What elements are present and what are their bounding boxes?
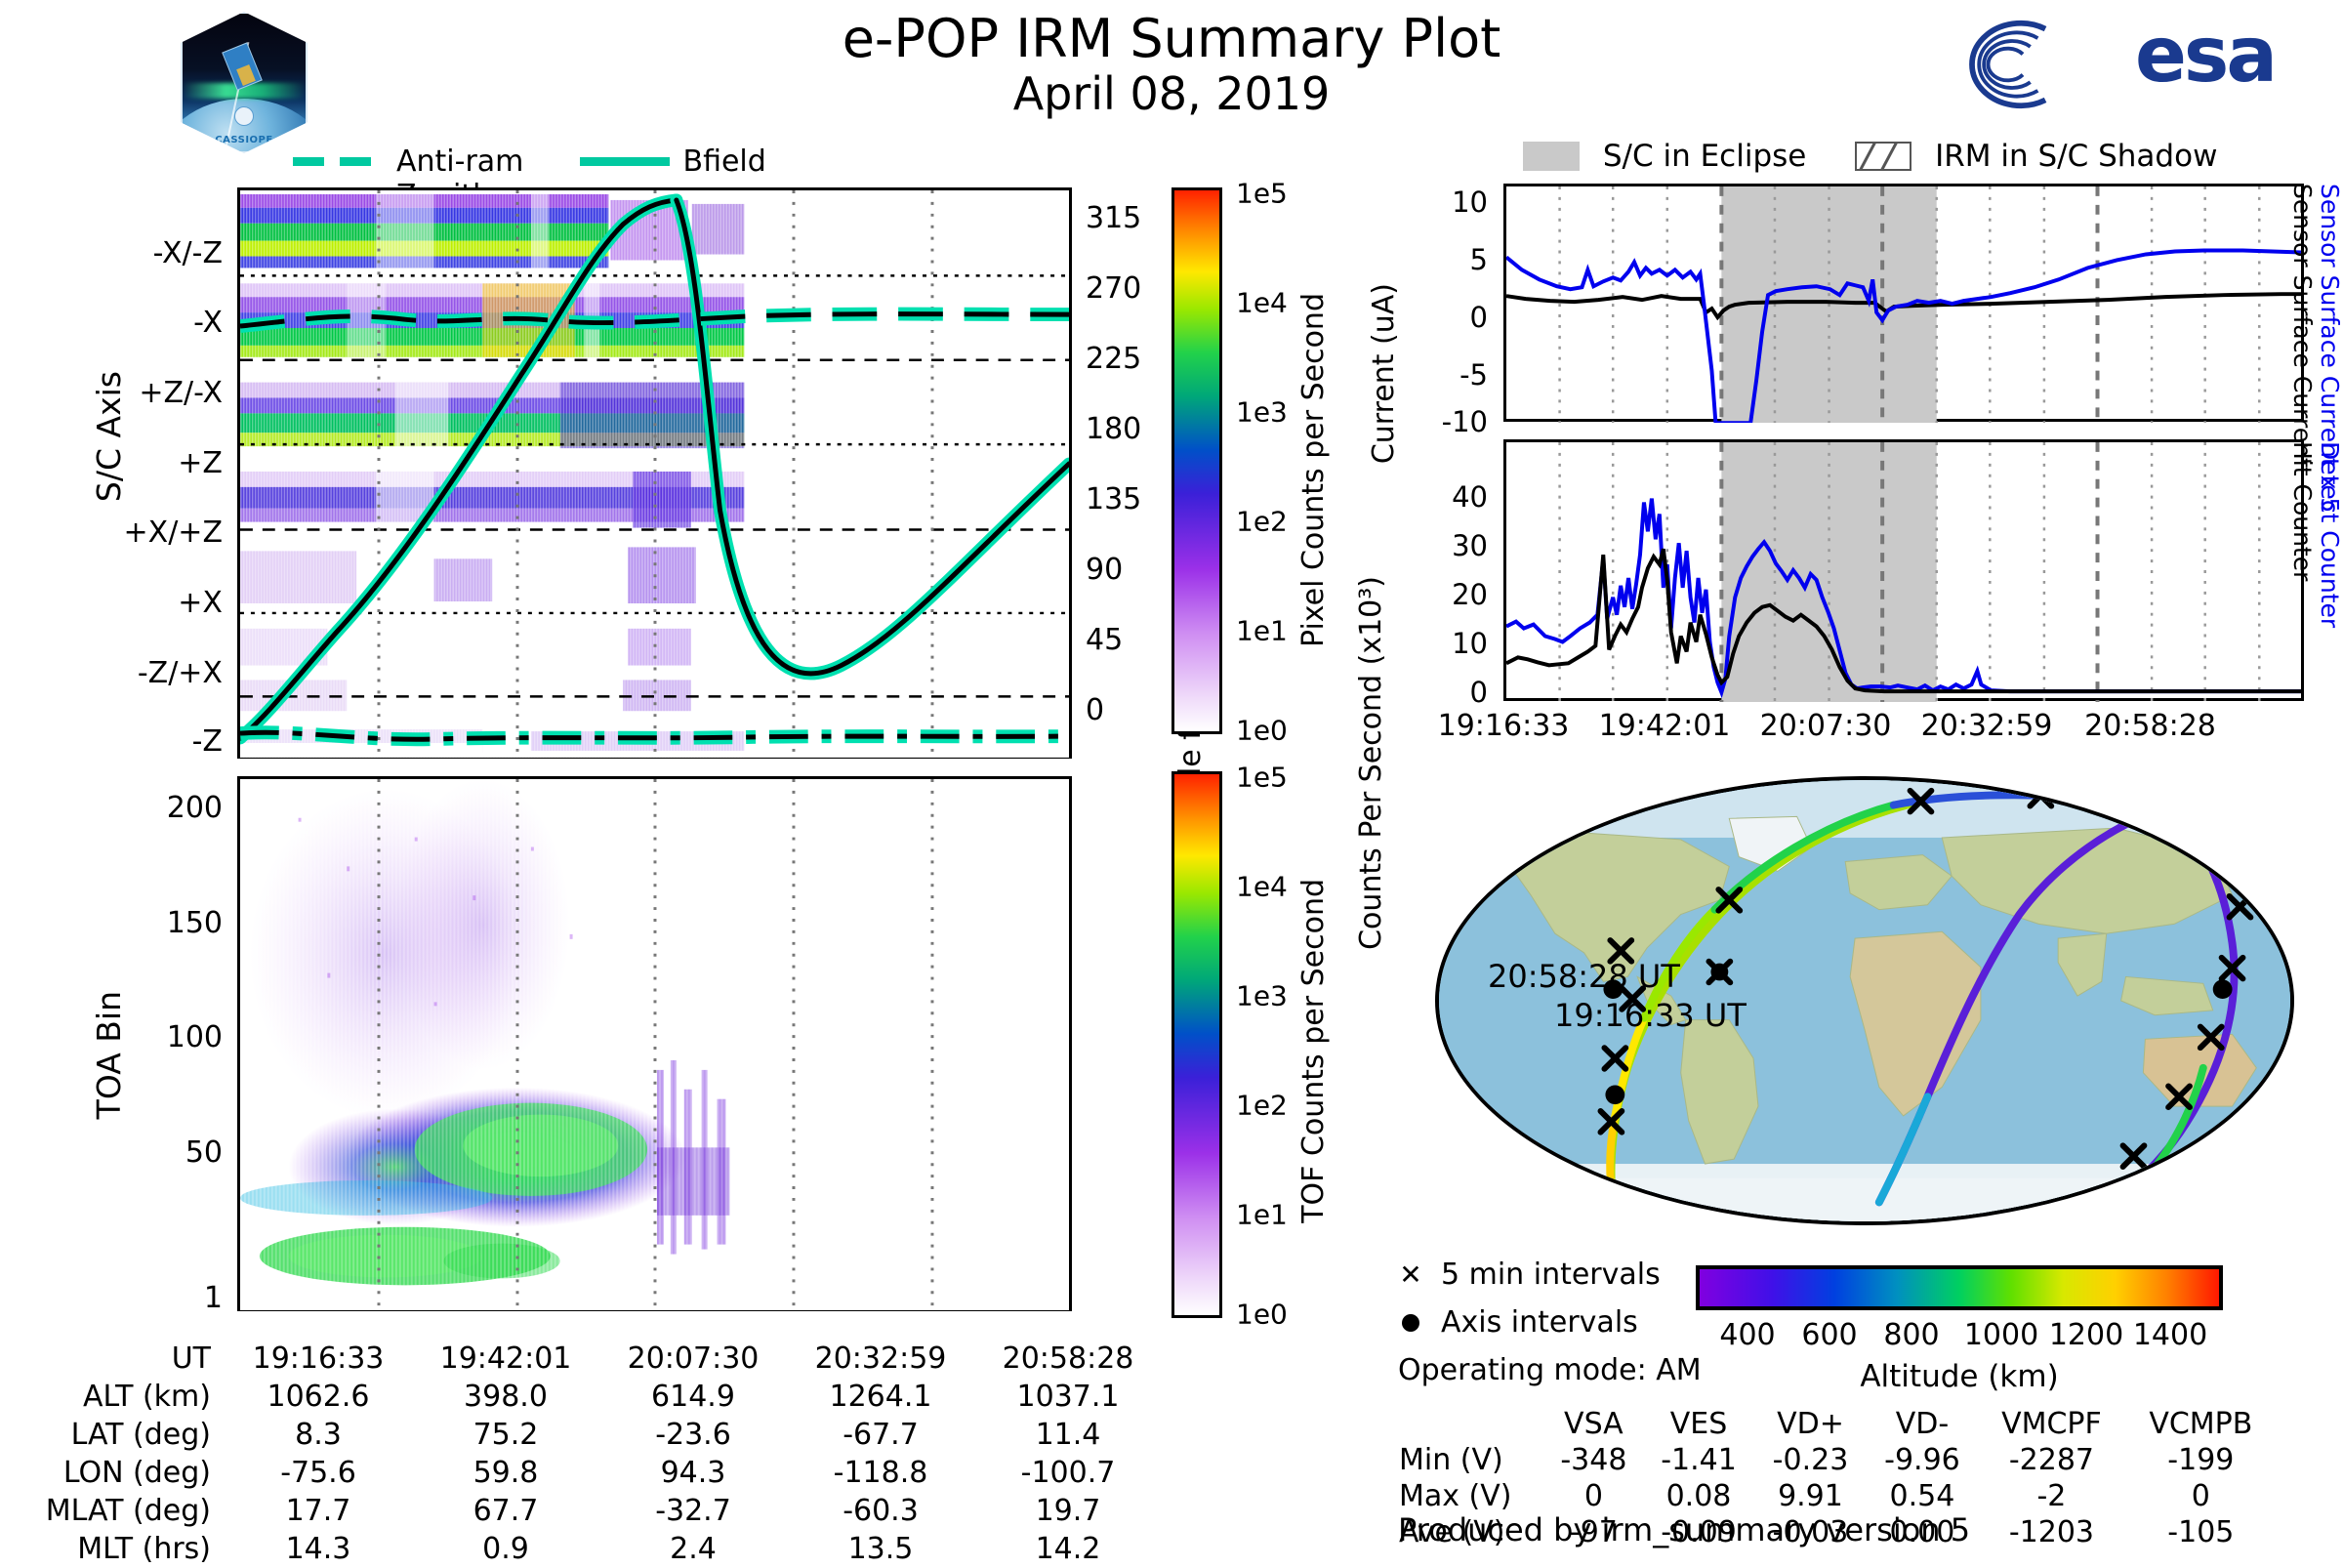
- orbit-data-table: UT 19:16:33 19:42:01 20:07:30 20:32:59 2…: [0, 1340, 1162, 1568]
- stats-col-vmcpf: VMCPF: [1978, 1406, 2125, 1442]
- map-altitude-colorbar: [1696, 1265, 2223, 1310]
- panel-a-angle-0: 315: [1086, 201, 1141, 235]
- cbar-b-tick-1: 1e4: [1236, 871, 1288, 903]
- panel-d-ylabel: Counts Per Second (x10³): [1355, 576, 1387, 950]
- panel-a-ytick-1: -X: [107, 306, 223, 340]
- cbar-a-tick-5: 1e0: [1236, 715, 1288, 747]
- cell-mlat-2: -32.7: [599, 1492, 787, 1530]
- cell-lat-0: 8.3: [225, 1416, 412, 1454]
- panel-c-ytick-3: -5: [1418, 358, 1488, 392]
- cell-alt-0: 1062.6: [225, 1378, 412, 1416]
- legend-label-shadow: IRM in S/C Shadow: [1935, 139, 2217, 174]
- cell-lon-2: 94.3: [599, 1454, 787, 1492]
- cbar-a-tick-4: 1e1: [1236, 615, 1288, 647]
- panel-d-right-label-blue: Detect Counter: [2316, 441, 2343, 628]
- legend-item-bfield: Bfield: [580, 144, 766, 179]
- cell-lon-0: -75.6: [225, 1454, 412, 1492]
- current-plot: [1503, 184, 2304, 422]
- cell-lat-3: -67.7: [787, 1416, 974, 1454]
- cell-alt-4: 1037.1: [974, 1378, 1162, 1416]
- panel-b-colorbar: [1171, 771, 1222, 1318]
- map-annotation-start: 20:58:28 UT: [1488, 958, 1680, 995]
- cross-marker-icon: ✕: [1398, 1259, 1423, 1291]
- legend-label-eclipse: S/C in Eclipse: [1603, 139, 1807, 174]
- map-legend-item-axis: Axis intervals: [1398, 1305, 1702, 1340]
- cbar-a-tick-1: 1e4: [1236, 287, 1288, 319]
- panel-a-angle-5: 90: [1086, 553, 1123, 587]
- panel-c-ytick-0: 10: [1418, 186, 1488, 219]
- esa-arc-icon: [1943, 18, 2058, 111]
- stats-max-vcmpb: 0: [2125, 1478, 2277, 1514]
- panel-d-ytick-3: 10: [1414, 627, 1488, 660]
- map-colorbar-label: Altitude (km): [1696, 1359, 2223, 1394]
- cell-lat-1: 75.2: [412, 1416, 599, 1454]
- cbar-b-tick-0: 1e5: [1236, 762, 1288, 794]
- cell-ut-3: 20:32:59: [787, 1340, 974, 1378]
- cell-ut-1: 19:42:01: [412, 1340, 599, 1378]
- panel-d-ytick-0: 40: [1414, 480, 1488, 514]
- cbar-b-tick-5: 1e0: [1236, 1299, 1288, 1331]
- map-legend-item-5min: ✕ 5 min intervals: [1398, 1258, 1702, 1292]
- time-tick-1: 19:42:01: [1582, 709, 1747, 743]
- cbar-a-tick-0: 1e5: [1236, 178, 1288, 210]
- cassiope-mission-patch-icon: CASSIOPE: [181, 12, 308, 153]
- table-row: LON (deg) -75.6 59.8 94.3 -118.8 -100.7: [0, 1454, 1162, 1492]
- panel-a-ytick-2: +Z/-X: [93, 376, 223, 410]
- stats-col-ves: VES: [1643, 1406, 1754, 1442]
- row-header-ut: UT: [0, 1340, 225, 1378]
- footer-produced-by: Produced by irm_summary version 5: [1398, 1511, 1970, 1548]
- map-cbar-tick-5: 1400: [2117, 1318, 2224, 1352]
- panel-a-angle-7: 0: [1086, 693, 1104, 727]
- cell-mlat-4: 19.7: [974, 1492, 1162, 1530]
- panel-a-ytick-7: -Z: [107, 724, 223, 759]
- legend-label-antiram: Anti-ram: [396, 144, 523, 179]
- panel-a-colorbar-label: Pixel Counts per Second: [1296, 293, 1331, 647]
- stats-min-vcmpb: -199: [2125, 1442, 2277, 1478]
- counts-plot-series: [1506, 442, 2301, 702]
- panel-a-angle-6: 45: [1086, 623, 1123, 657]
- row-header-alt: ALT (km): [0, 1378, 225, 1416]
- cell-mlt-0: 14.3: [225, 1530, 412, 1568]
- panel-a-ytick-5: +X: [107, 586, 223, 620]
- cell-alt-2: 614.9: [599, 1378, 787, 1416]
- stats-row-min: Min (V) -348 -1.41 -0.23 -9.96 -2287 -19…: [1398, 1442, 2277, 1478]
- stats-col-vdplus: VD+: [1754, 1406, 1866, 1442]
- bfield-line-swatch-icon: [580, 157, 670, 166]
- shadow-hatch-swatch-icon: [1855, 142, 1911, 171]
- stats-max-vdplus: 9.91: [1754, 1478, 1866, 1514]
- cell-lon-1: 59.8: [412, 1454, 599, 1492]
- panel-d-ytick-2: 20: [1414, 578, 1488, 611]
- cell-lon-4: -100.7: [974, 1454, 1162, 1492]
- stats-min-vdplus: -0.23: [1754, 1442, 1866, 1478]
- current-plot-series: [1506, 186, 2301, 423]
- map-legend: ✕ 5 min intervals Axis intervals Operati…: [1398, 1258, 1702, 1387]
- map-legend-label-axis: Axis intervals: [1441, 1305, 1638, 1340]
- panel-c-ytick-1: 5: [1418, 243, 1488, 276]
- counts-plot: [1503, 439, 2304, 701]
- dot-marker-icon: [1398, 1305, 1423, 1340]
- cell-lon-3: -118.8: [787, 1454, 974, 1492]
- eclipse-legend: S/C in Eclipse IRM in S/C Shadow: [1523, 137, 2323, 176]
- legend-item-eclipse: S/C in Eclipse: [1523, 138, 1806, 175]
- stats-rowhdr-min: Min (V): [1398, 1442, 1544, 1478]
- table-row: MLT (hrs) 14.3 0.9 2.4 13.5 14.2: [0, 1530, 1162, 1568]
- cell-mlat-3: -60.3: [787, 1492, 974, 1530]
- stats-row-max: Max (V) 0 0.08 9.91 0.54 -2 0: [1398, 1478, 2277, 1514]
- cell-mlt-3: 13.5: [787, 1530, 974, 1568]
- panel-a-angle-2: 225: [1086, 342, 1141, 376]
- antiram-line-swatch-icon: [293, 157, 383, 166]
- legend-label-bfield: Bfield: [683, 144, 766, 179]
- table-row: MLAT (deg) 17.7 67.7 -32.7 -60.3 19.7: [0, 1492, 1162, 1530]
- row-header-lon: LON (deg): [0, 1454, 225, 1492]
- map-legend-label-5min: 5 min intervals: [1441, 1258, 1661, 1292]
- panel-b-colorbar-label: TOF Counts per Second: [1296, 879, 1331, 1223]
- cell-mlat-1: 67.7: [412, 1492, 599, 1530]
- stats-max-vsa: 0: [1544, 1478, 1643, 1514]
- panel-a-ytick-6: -Z/+X: [93, 656, 223, 690]
- cell-lat-4: 11.4: [974, 1416, 1162, 1454]
- table-row: UT 19:16:33 19:42:01 20:07:30 20:32:59 2…: [0, 1340, 1162, 1378]
- time-tick-0: 19:16:33: [1420, 709, 1586, 743]
- legend-item-antiram: Anti-ram: [293, 144, 523, 179]
- cell-mlt-1: 0.9: [412, 1530, 599, 1568]
- panel-a-angle-3: 180: [1086, 412, 1141, 446]
- time-tick-3: 20:32:59: [1904, 709, 2070, 743]
- table-row: ALT (km) 1062.6 398.0 614.9 1264.1 1037.…: [0, 1378, 1162, 1416]
- panel-c-right-label-black: Sensor Surface Current: [2288, 184, 2317, 468]
- stats-ave-vcmpb: -105: [2125, 1514, 2277, 1550]
- toa-bin-spectrogram-image: [240, 779, 1069, 1310]
- time-tick-4: 20:58:28: [2065, 709, 2236, 743]
- time-tick-2: 20:07:30: [1743, 709, 1909, 743]
- stats-header-row: VSA VES VD+ VD- VMCPF VCMPB: [1398, 1406, 2277, 1442]
- map-annotation-end: 19:16:33 UT: [1554, 997, 1747, 1034]
- cell-lat-2: -23.6: [599, 1416, 787, 1454]
- cell-ut-4: 20:58:28: [974, 1340, 1162, 1378]
- stats-rowhdr-max: Max (V): [1398, 1478, 1544, 1514]
- cbar-b-tick-3: 1e2: [1236, 1090, 1288, 1122]
- stats-min-ves: -1.41: [1643, 1442, 1754, 1478]
- panel-b-ytick-3: 50: [127, 1135, 223, 1170]
- cbar-a-tick-2: 1e3: [1236, 396, 1288, 429]
- panel-b-ytick-0: 200: [127, 791, 223, 825]
- panel-a-ytick-3: +Z: [107, 446, 223, 480]
- sc-axis-spectrogram-image: [240, 190, 1069, 758]
- panel-a-colorbar: [1171, 187, 1222, 734]
- panel-d-right-label-black: Hit Counter: [2288, 441, 2317, 581]
- toa-bin-spectrogram: [237, 776, 1072, 1311]
- orbit-ground-track-map: 20:58:28 UT 19:16:33 UT: [1435, 776, 2294, 1225]
- stats-col-vsa: VSA: [1544, 1406, 1643, 1442]
- row-header-mlt: MLT (hrs): [0, 1530, 225, 1568]
- panel-d-ytick-4: 0: [1414, 676, 1488, 709]
- row-header-mlat: MLAT (deg): [0, 1492, 225, 1530]
- panel-c-ytick-2: 0: [1418, 301, 1488, 334]
- cell-alt-1: 398.0: [412, 1378, 599, 1416]
- map-cbar-tick-2: 800: [1863, 1318, 1960, 1352]
- panel-c-ytick-4: -10: [1418, 405, 1488, 438]
- esa-logo-icon: esa: [1943, 10, 2275, 117]
- panel-b-ytick-1: 150: [127, 906, 223, 940]
- legend-item-shadow: IRM in S/C Shadow: [1855, 138, 2217, 175]
- cell-mlat-0: 17.7: [225, 1492, 412, 1530]
- esa-wordmark: esa: [2135, 12, 2275, 100]
- cell-alt-3: 1264.1: [787, 1378, 974, 1416]
- stats-min-vsa: -348: [1544, 1442, 1643, 1478]
- cbar-b-tick-4: 1e1: [1236, 1199, 1288, 1231]
- cell-mlt-4: 14.2: [974, 1530, 1162, 1568]
- stats-max-vmcpf: -2: [1978, 1478, 2125, 1514]
- cbar-a-tick-3: 1e2: [1236, 506, 1288, 538]
- panel-b-ylabel: TOA Bin: [90, 991, 128, 1119]
- operating-mode-label: Operating mode: AM: [1398, 1353, 1702, 1387]
- panel-b-ytick-4: 1: [127, 1281, 223, 1315]
- stats-col-vcmpb: VCMPB: [2125, 1406, 2277, 1442]
- panel-b-ytick-2: 100: [127, 1020, 223, 1054]
- stats-ave-vmcpf: -1203: [1978, 1514, 2125, 1550]
- panel-a-ytick-0: -X/-Z: [107, 236, 223, 270]
- cbar-b-tick-2: 1e3: [1236, 980, 1288, 1012]
- table-row: LAT (deg) 8.3 75.2 -23.6 -67.7 11.4: [0, 1416, 1162, 1454]
- sc-axis-spectrogram: [237, 187, 1072, 759]
- stats-min-vmcpf: -2287: [1978, 1442, 2125, 1478]
- eclipse-swatch-icon: [1523, 142, 1580, 171]
- panel-a-ytick-4: +X/+Z: [93, 516, 223, 550]
- stats-min-vdminus: -9.96: [1867, 1442, 1978, 1478]
- panel-a-angle-4: 135: [1086, 482, 1141, 516]
- stats-max-vdminus: 0.54: [1867, 1478, 1978, 1514]
- cell-ut-0: 19:16:33: [225, 1340, 412, 1378]
- patch-label: CASSIOPE: [183, 135, 306, 145]
- stats-col-vdminus: VD-: [1867, 1406, 1978, 1442]
- world-map-image: 20:58:28 UT 19:16:33 UT: [1435, 776, 2294, 1225]
- panel-a-angle-1: 270: [1086, 271, 1141, 306]
- spectrogram-legend: Anti-ram Bfield Zenith: [293, 144, 1015, 178]
- row-header-lat: LAT (deg): [0, 1416, 225, 1454]
- cell-ut-2: 20:07:30: [599, 1340, 787, 1378]
- cell-mlt-2: 2.4: [599, 1530, 787, 1568]
- panel-c-ylabel: Current (uA): [1367, 283, 1401, 464]
- panel-d-ytick-1: 30: [1414, 529, 1488, 562]
- stats-max-ves: 0.08: [1643, 1478, 1754, 1514]
